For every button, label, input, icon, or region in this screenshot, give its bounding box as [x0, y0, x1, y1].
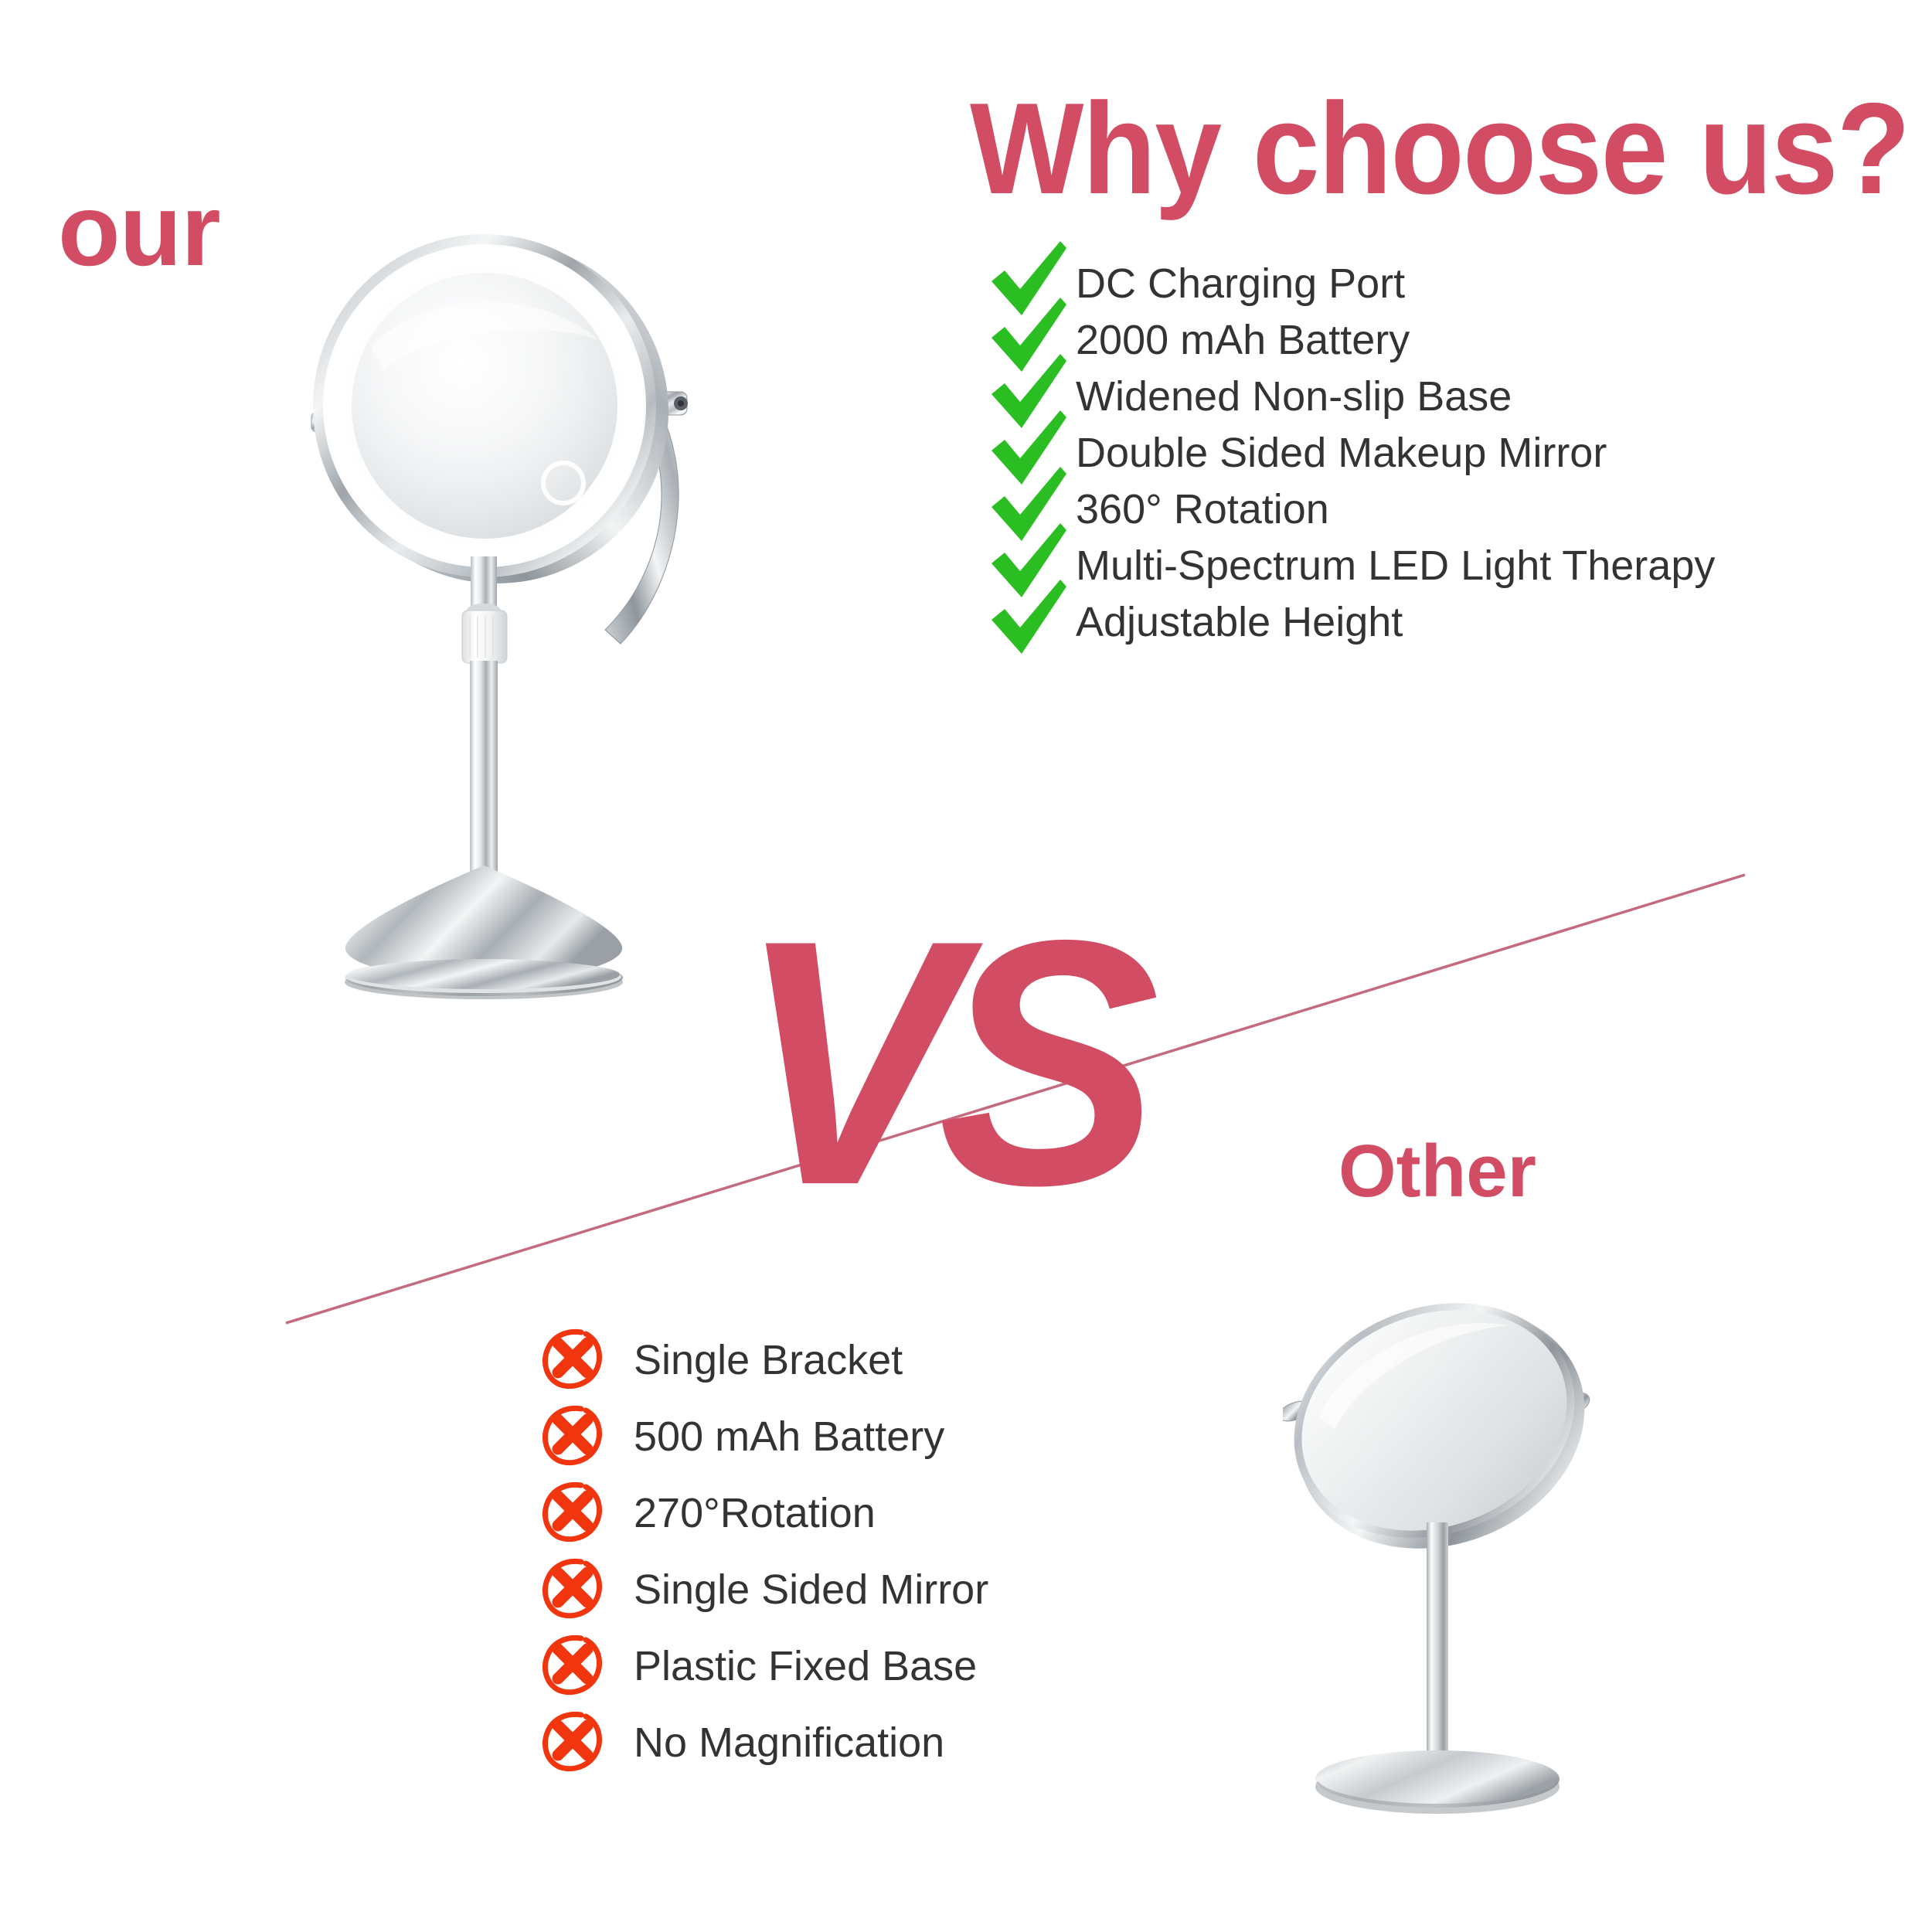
circle-x-icon — [541, 1628, 634, 1704]
list-item: Double Sided Makeup Mirror — [989, 424, 1917, 481]
list-item: Single Sided Mirror — [541, 1551, 1236, 1628]
list-item: Widened Non-slip Base — [989, 368, 1917, 424]
list-item: 360° Rotation — [989, 481, 1917, 537]
pros-list: DC Charging Port 2000 mAh Battery Widene… — [989, 255, 1917, 650]
list-item-label: Single Sided Mirror — [634, 1569, 988, 1611]
list-item: DC Charging Port — [989, 255, 1917, 311]
list-item: Single Bracket — [541, 1321, 1236, 1398]
circle-x-icon — [541, 1475, 634, 1551]
list-item: 270°Rotation — [541, 1475, 1236, 1551]
list-item-label: DC Charging Port — [1076, 263, 1405, 304]
other-product-image — [1283, 1260, 1685, 1901]
list-item-label: 2000 mAh Battery — [1076, 319, 1410, 361]
check-icon — [989, 594, 1076, 650]
list-item-label: 500 mAh Battery — [634, 1416, 944, 1458]
list-item: Multi-Spectrum LED Light Therapy — [989, 537, 1917, 594]
list-item-label: Double Sided Makeup Mirror — [1076, 432, 1607, 474]
list-item: 2000 mAh Battery — [989, 311, 1917, 368]
cons-list: Single Bracket 500 mAh Battery 270°R — [541, 1321, 1236, 1781]
other-label: Other — [1338, 1134, 1536, 1209]
list-item: No Magnification — [541, 1704, 1236, 1781]
list-item-label: Multi-Spectrum LED Light Therapy — [1076, 545, 1715, 587]
list-item-label: 360° Rotation — [1076, 488, 1329, 530]
list-item-label: Single Bracket — [634, 1339, 903, 1381]
circle-x-icon — [541, 1551, 634, 1628]
list-item: Adjustable Height — [989, 594, 1917, 650]
list-item-label: Adjustable Height — [1076, 601, 1403, 643]
circle-x-icon — [541, 1398, 634, 1475]
our-product-image — [305, 166, 738, 1032]
our-label: our — [58, 179, 220, 281]
list-item-label: No Magnification — [634, 1722, 944, 1764]
infographic-canvas: Why choose us? our Other VS DC Charging … — [0, 0, 1932, 1932]
vs-label: VS — [738, 889, 1138, 1238]
list-item: Plastic Fixed Base — [541, 1628, 1236, 1704]
list-item: 500 mAh Battery — [541, 1398, 1236, 1475]
page-title: Why choose us? — [970, 83, 1909, 213]
list-item-label: Widened Non-slip Base — [1076, 376, 1512, 417]
list-item-label: Plastic Fixed Base — [634, 1645, 977, 1687]
list-item-label: 270°Rotation — [634, 1492, 876, 1534]
circle-x-icon — [541, 1704, 634, 1781]
circle-x-icon — [541, 1321, 634, 1398]
